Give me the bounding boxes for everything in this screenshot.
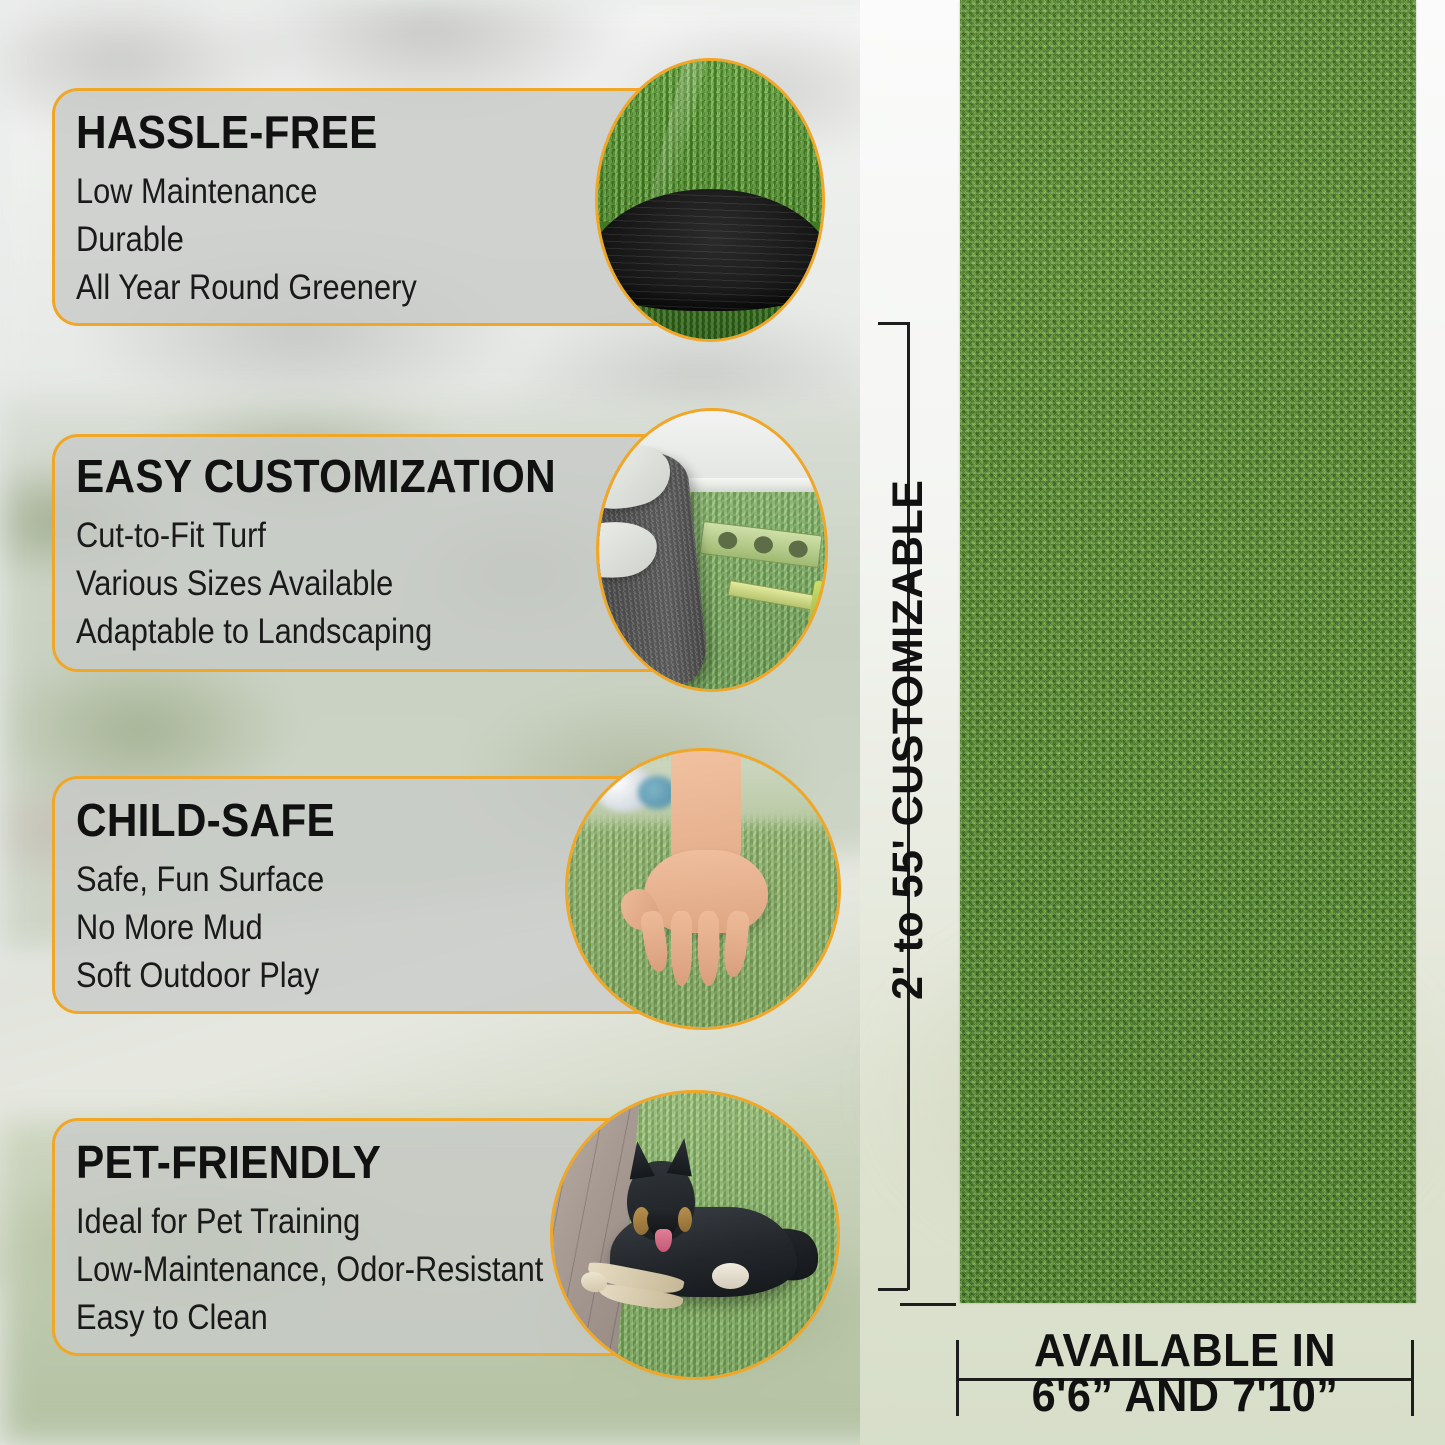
turf-bottom-tick bbox=[900, 1303, 956, 1306]
feature-line: Various Sizes Available bbox=[76, 560, 535, 608]
feature-photo-dog bbox=[550, 1090, 840, 1380]
feature-line: All Year Round Greenery bbox=[76, 264, 417, 312]
feature-line: Adaptable to Landscaping bbox=[76, 608, 535, 656]
feature-photo-installation bbox=[596, 408, 828, 692]
feature-title: CHILD-SAFE bbox=[76, 794, 336, 846]
feature-line: Low Maintenance bbox=[76, 168, 417, 216]
feature-line: Soft Outdoor Play bbox=[76, 952, 324, 1000]
feature-photo-turf-roll bbox=[595, 58, 825, 342]
vertical-dimension-cap-bottom bbox=[878, 1288, 908, 1291]
feature-photo-child-hand bbox=[565, 748, 841, 1030]
available-sizes-line-2: 6'6” AND 7'10” bbox=[970, 1373, 1401, 1418]
feature-title: PET-FRIENDLY bbox=[76, 1136, 565, 1188]
feature-line: Easy to Clean bbox=[76, 1294, 543, 1342]
feature-title: EASY CUSTOMIZATION bbox=[76, 450, 556, 502]
feature-title: HASSLE-FREE bbox=[76, 106, 432, 158]
feature-line: Ideal for Pet Training bbox=[76, 1198, 543, 1246]
vertical-dimension-cap-top bbox=[878, 322, 908, 325]
infographic-canvas: HASSLE-FREE Low Maintenance Durable All … bbox=[0, 0, 1445, 1445]
available-sizes-line-1: AVAILABLE IN bbox=[970, 1328, 1401, 1373]
turf-swatch-panel bbox=[960, 0, 1416, 1303]
feature-line: Cut-to-Fit Turf bbox=[76, 512, 535, 560]
feature-line: Durable bbox=[76, 216, 417, 264]
vertical-dimension-label: 2' to 55' CUSTOMIZABLE bbox=[884, 480, 933, 1000]
available-sizes-caption: AVAILABLE IN 6'6” AND 7'10” bbox=[956, 1328, 1414, 1418]
feature-line: Low-Maintenance, Odor-Resistant bbox=[76, 1246, 543, 1294]
feature-line: Safe, Fun Surface bbox=[76, 856, 324, 904]
feature-line: No More Mud bbox=[76, 904, 324, 952]
